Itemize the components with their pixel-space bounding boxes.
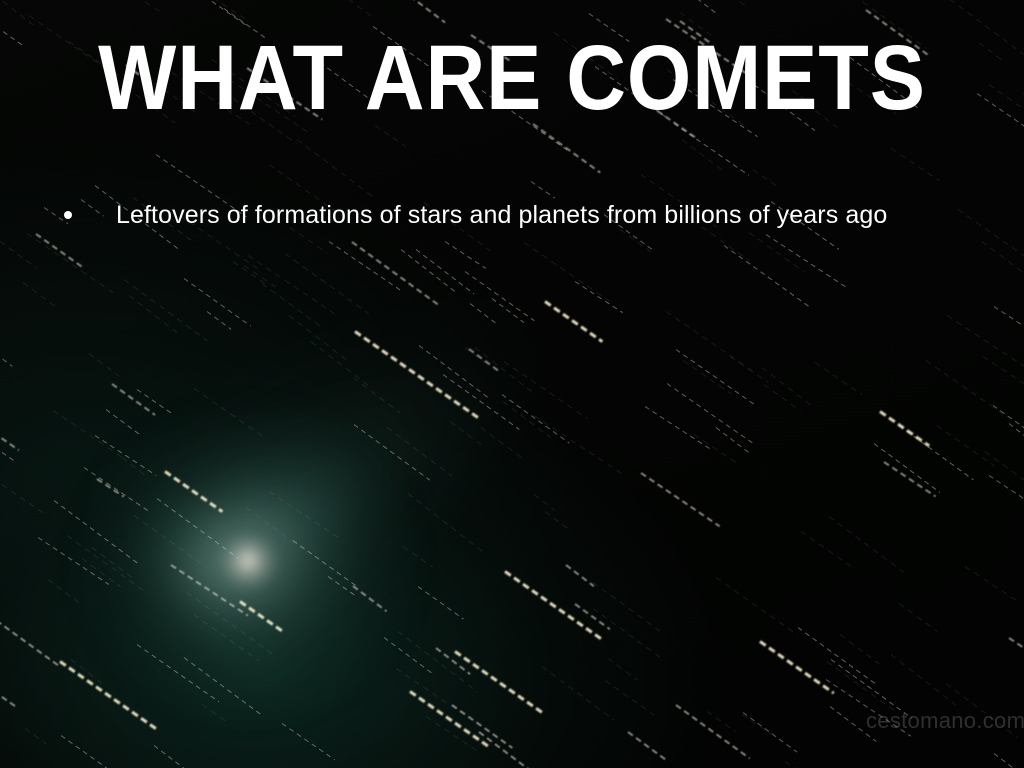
source-watermark: cestomano.com — [866, 707, 1024, 735]
list-item: Leftovers of formations of stars and pla… — [64, 198, 1000, 232]
page-title: WHAT ARE COMETS — [51, 30, 973, 126]
presentation-slide: WHAT ARE COMETS Leftovers of formations … — [0, 0, 1024, 768]
bullet-marker-icon — [64, 211, 72, 219]
bullet-item-label: Leftovers of formations of stars and pla… — [116, 198, 887, 232]
